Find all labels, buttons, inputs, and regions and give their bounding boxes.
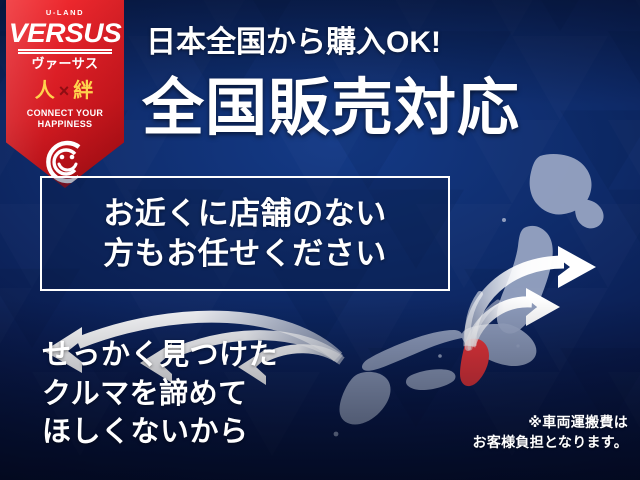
tagline-line-2: HAPPINESS	[6, 119, 124, 130]
callout-line-1: お近くに店舗のない	[103, 194, 387, 234]
brand-kanji-motto: 人×絆	[6, 81, 124, 101]
brand-double-rule	[18, 49, 112, 54]
brand-kana: ヴァーサス	[6, 57, 124, 70]
brand-tagline: CONNECT YOUR HAPPINESS	[6, 108, 124, 131]
cross-icon: ×	[59, 81, 72, 101]
kanji-hito: 人	[35, 80, 57, 102]
disclaimer-line-2: お客様負担となります。	[473, 432, 628, 452]
message-line-1: せっかく見つけた	[42, 336, 278, 375]
message-block: せっかく見つけた クルマを諦めて ほしくないから	[42, 336, 278, 452]
brand-sub-label: U-LAND	[6, 9, 124, 17]
tagline-line-1: CONNECT YOUR	[6, 108, 124, 119]
disclaimer-line-1: ※車両運搬費は	[473, 412, 628, 432]
headline-title: 全国販売対応	[142, 78, 520, 140]
disclaimer: ※車両運搬費は お客様負担となります。	[473, 412, 628, 453]
message-line-3: ほしくないから	[42, 413, 278, 452]
promo-banner: U-LAND VERSUS ヴァーサス 人×絆 CONNECT YOUR HAP…	[0, 0, 640, 480]
kanji-kizuna: 絆	[73, 80, 95, 102]
headline-subtitle: 日本全国から購入OK!	[146, 28, 441, 58]
brand-name: VERSUS	[6, 20, 124, 47]
message-line-2: クルマを諦めて	[42, 375, 278, 414]
callout-line-2: 方もお任せください	[103, 234, 387, 274]
callout-box: お近くに店舗のない 方もお任せください	[40, 176, 450, 291]
